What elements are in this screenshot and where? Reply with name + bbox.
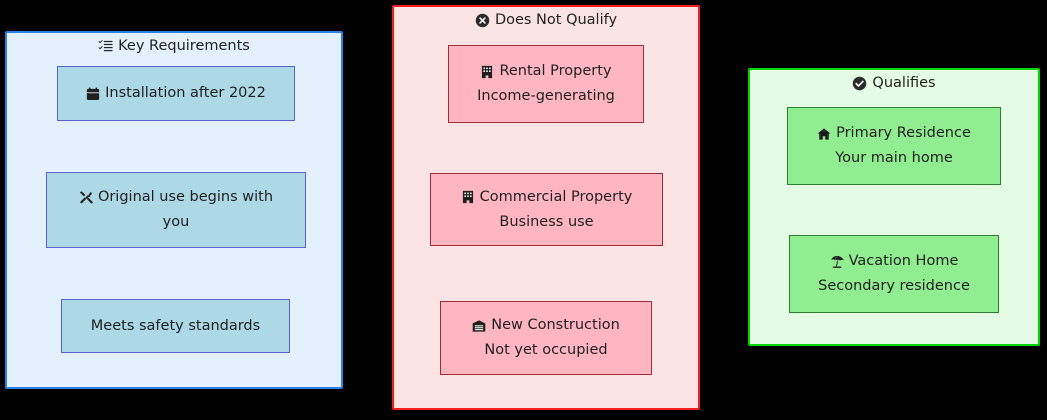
node-line1: New Construction [472,313,620,338]
checklist-icon [98,39,113,54]
node-meets-safety-standards[interactable]: Meets safety standards [61,299,290,353]
node-line2: Income-generating [477,84,615,109]
node-text: Original use begins with [98,185,273,210]
node-text: Installation after 2022 [105,81,266,106]
node-line1: Meets safety standards [91,314,260,339]
node-line2: Secondary residence [818,274,970,299]
node-line1: Rental Property [480,59,611,84]
cluster-title-key-requirements: Key Requirements [7,39,341,54]
cluster-title-does-not-qualify: Does Not Qualify [394,13,698,28]
cluster-title-label: Key Requirements [118,39,250,54]
cluster-title-label: Qualifies [872,76,935,91]
node-text: Vacation Home [849,249,959,274]
node-line1: Vacation Home [830,249,959,274]
node-commercial-property[interactable]: Commercial Property Business use [430,173,663,246]
node-text: Rental Property [499,59,611,84]
node-line1: Primary Residence [817,121,971,146]
node-text: Meets safety standards [91,314,260,339]
node-line2: Business use [499,210,593,235]
diagram-canvas: Key Requirements Installation after 2022 [0,0,1047,420]
home-icon [817,127,831,141]
node-line2: Not yet occupied [484,338,607,363]
node-primary-residence[interactable]: Primary Residence Your main home [787,107,1001,185]
node-text: New Construction [491,313,620,338]
circle-x-icon [475,13,490,28]
beach-umbrella-icon [830,255,844,269]
calendar-icon [86,87,100,101]
node-vacation-home[interactable]: Vacation Home Secondary residence [789,235,999,313]
warehouse-icon [472,319,486,333]
node-rental-property[interactable]: Rental Property Income-generating [448,45,644,123]
node-new-construction[interactable]: New Construction Not yet occupied [440,301,652,375]
building-icon [480,65,494,79]
node-text: Commercial Property [480,185,633,210]
node-installation-after-2022[interactable]: Installation after 2022 [57,66,295,121]
building-icon [461,190,475,204]
node-line1: Installation after 2022 [86,81,266,106]
node-line2: you [163,210,190,235]
node-line2: Your main home [835,146,953,171]
node-text: Primary Residence [836,121,971,146]
node-line1: Original use begins with [79,185,273,210]
cluster-title-label: Does Not Qualify [495,13,617,28]
node-line1: Commercial Property [461,185,633,210]
node-original-use-begins-with-you[interactable]: Original use begins with you [46,172,306,248]
circle-check-icon [852,76,867,91]
tools-icon [79,191,93,205]
cluster-title-qualifies: Qualifies [750,76,1038,91]
